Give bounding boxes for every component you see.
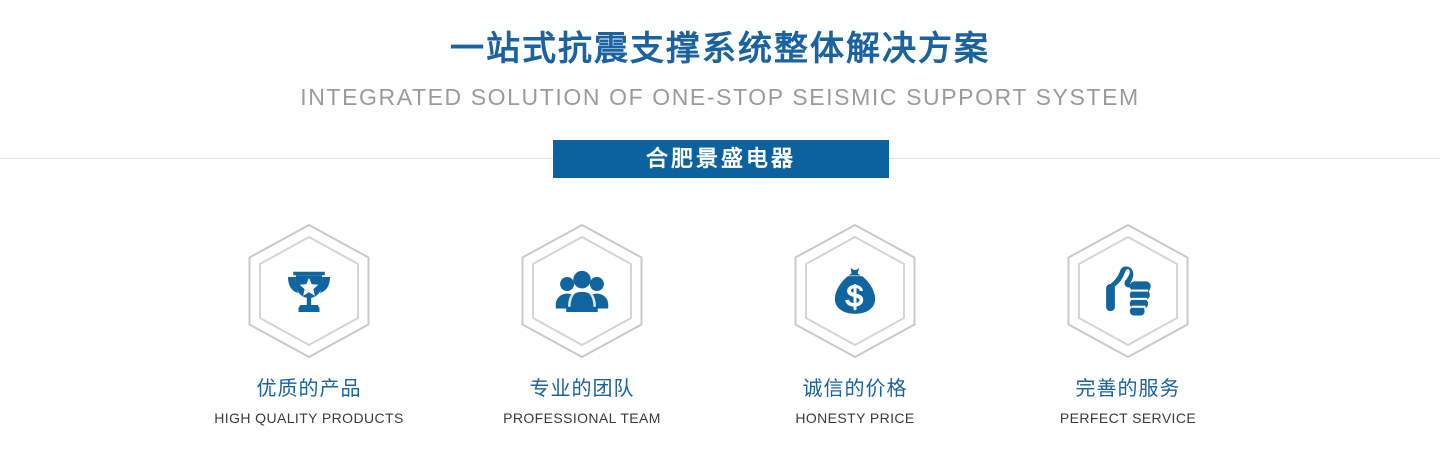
headline-english: INTEGRATED SOLUTION OF ONE-STOP SEISMIC … [0, 82, 1440, 112]
feature-title-chinese: 优质的产品 [214, 376, 404, 402]
feature-title-chinese: 专业的团队 [487, 376, 677, 402]
promo-banner: 一站式抗震支撑系统整体解决方案 INTEGRATED SOLUTION OF O… [0, 0, 1440, 452]
feature-title-english: HIGH QUALITY PRODUCTS [214, 408, 404, 428]
divider-row: 合肥景盛电器 [0, 140, 1440, 180]
feature-list: 优质的产品 HIGH QUALITY PRODUCTS [0, 222, 1440, 432]
money-bag-icon [827, 263, 883, 319]
feature-title-english: HONESTY PRICE [760, 408, 950, 428]
headline-block: 一站式抗震支撑系统整体解决方案 INTEGRATED SOLUTION OF O… [0, 26, 1440, 112]
headline-chinese: 一站式抗震支撑系统整体解决方案 [0, 26, 1440, 72]
feature-item-team: 专业的团队 PROFESSIONAL TEAM [487, 222, 677, 428]
feature-item-price: 诚信的价格 HONESTY PRICE [760, 222, 950, 428]
feature-title-english: PROFESSIONAL TEAM [487, 408, 677, 428]
team-people-icon [554, 263, 610, 319]
thumbs-up-icon [1100, 263, 1156, 319]
hexagon-frame-quality [240, 222, 378, 360]
feature-item-quality: 优质的产品 HIGH QUALITY PRODUCTS [214, 222, 404, 428]
feature-title-chinese: 诚信的价格 [760, 376, 950, 402]
hexagon-frame-team [513, 222, 651, 360]
divider-line-right [889, 158, 1440, 159]
company-name-badge: 合肥景盛电器 [553, 140, 889, 178]
trophy-icon [281, 263, 337, 319]
hexagon-frame-price [786, 222, 924, 360]
hexagon-frame-service [1059, 222, 1197, 360]
divider-line-left [0, 158, 553, 159]
feature-title-chinese: 完善的服务 [1033, 376, 1223, 402]
feature-item-service: 完善的服务 PERFECT SERVICE [1033, 222, 1223, 428]
feature-title-english: PERFECT SERVICE [1033, 408, 1223, 428]
